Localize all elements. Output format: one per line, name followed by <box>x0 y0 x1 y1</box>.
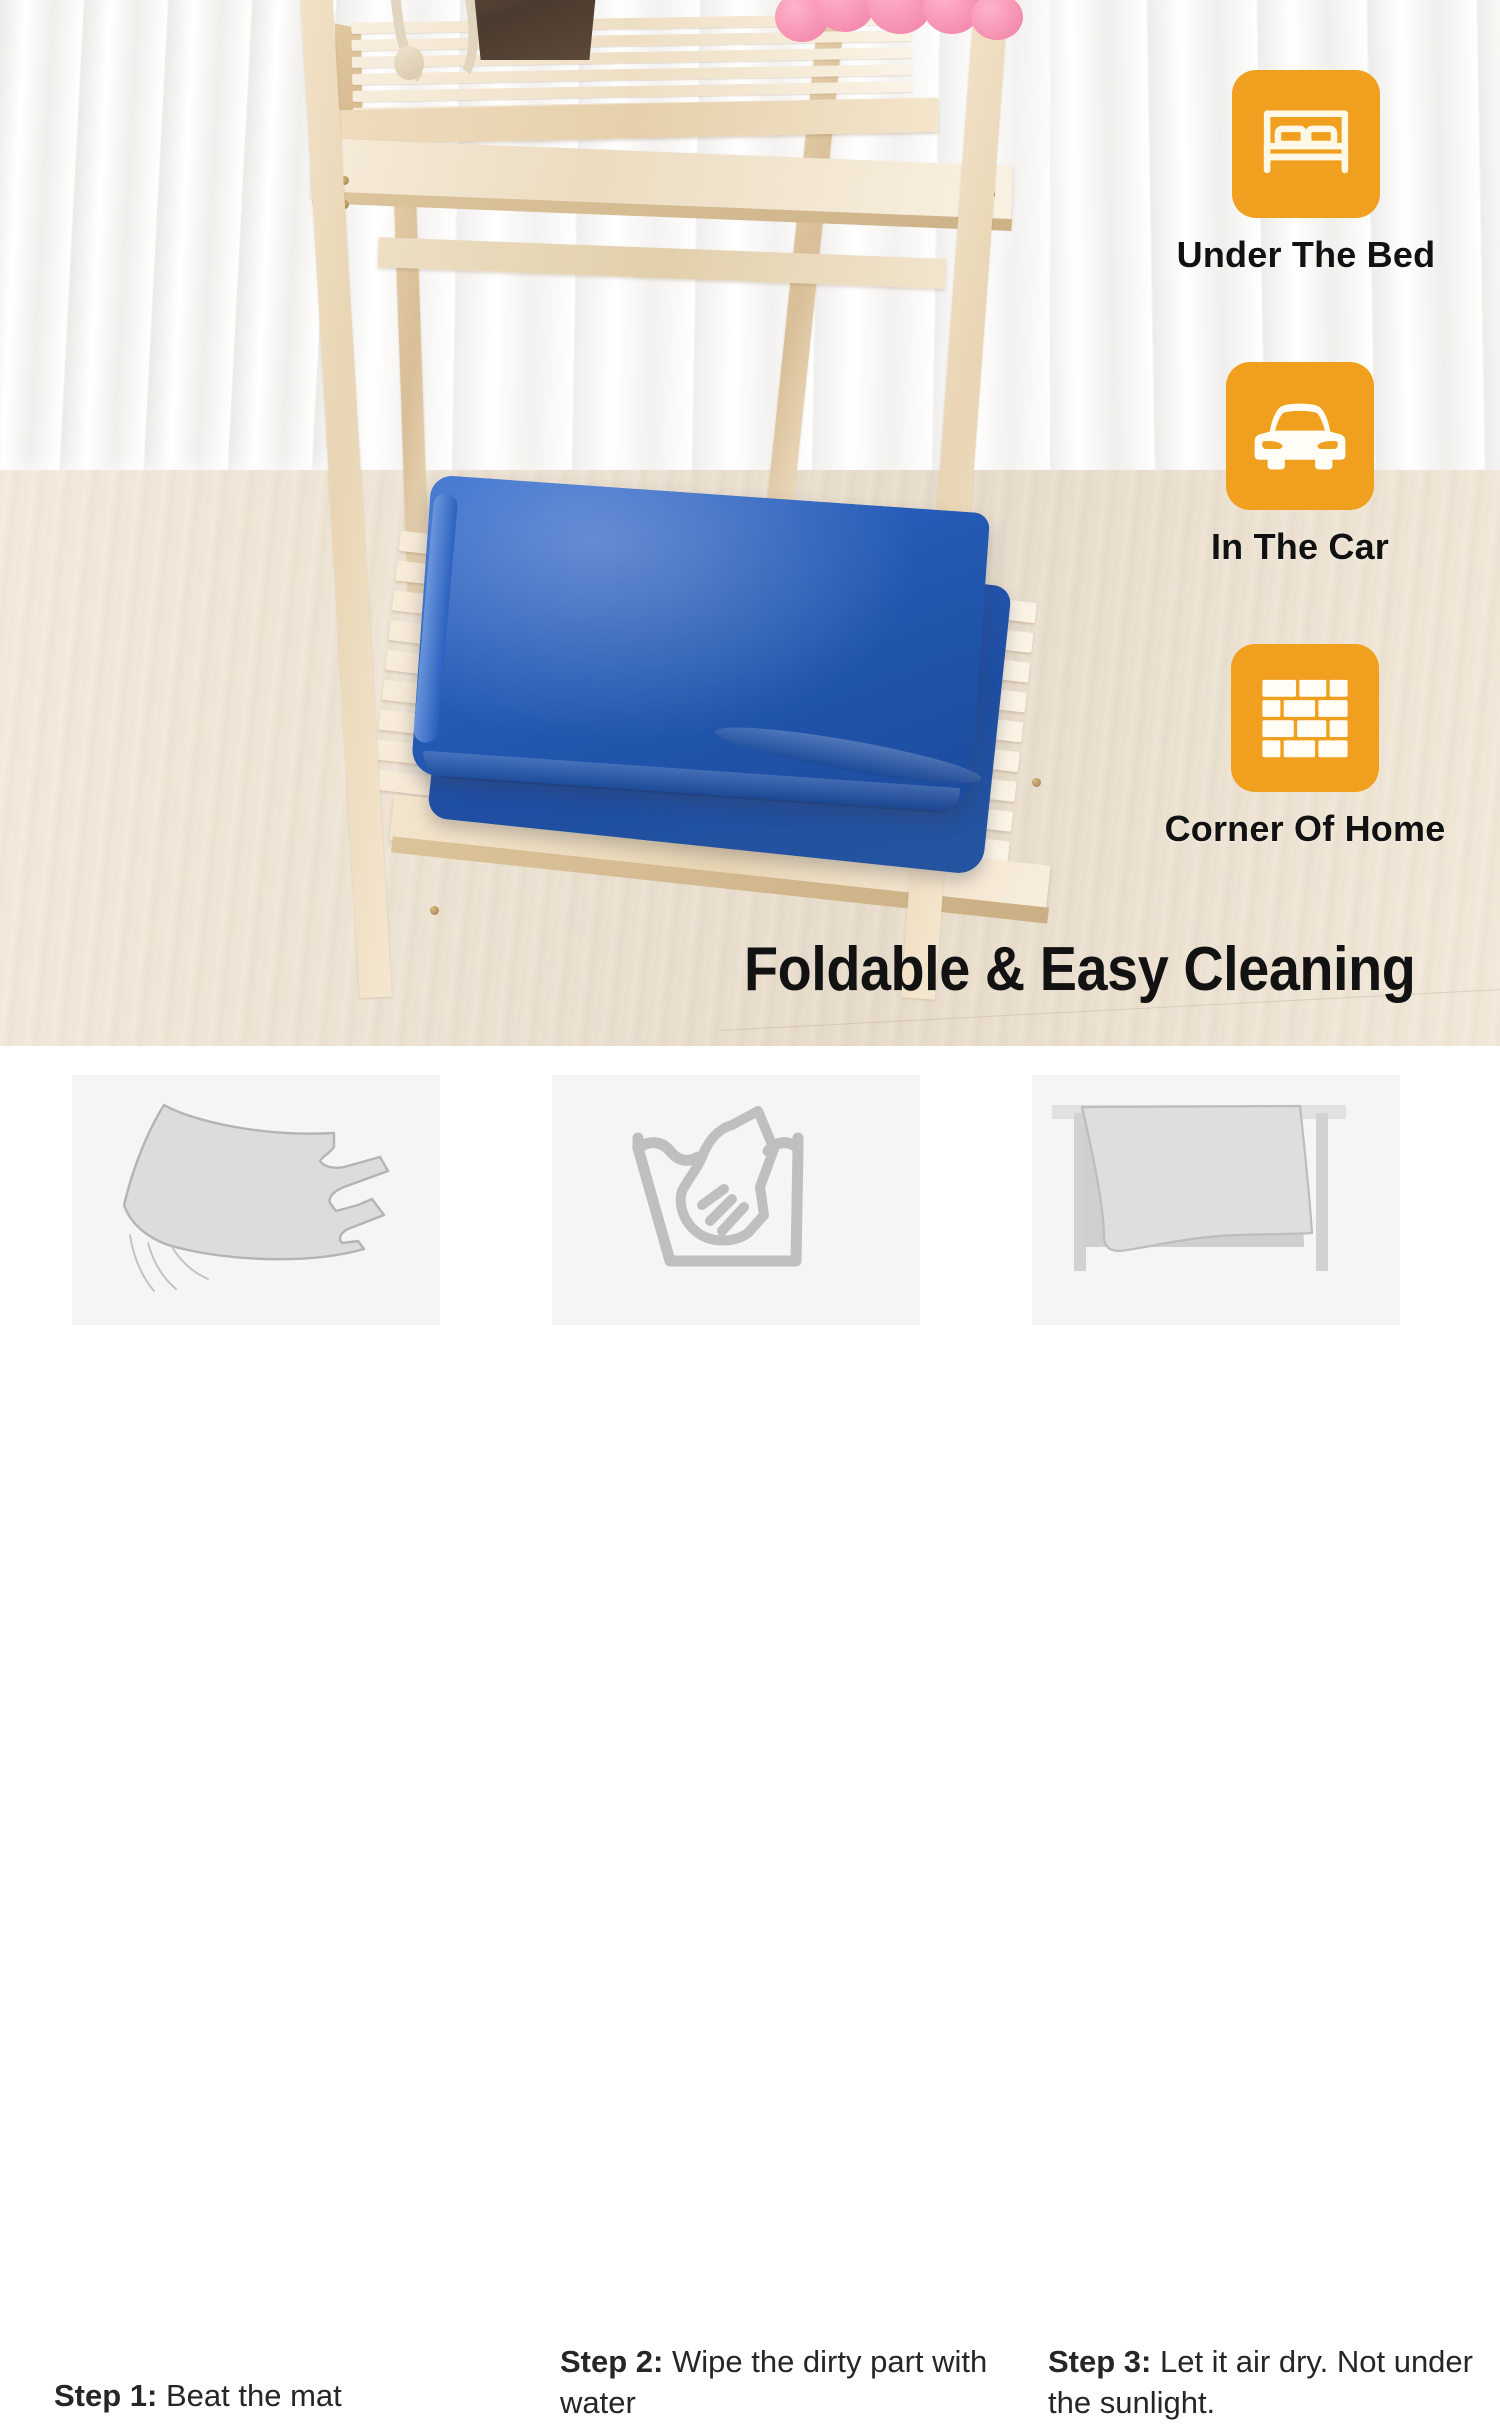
hand-wash-basin-icon <box>552 1075 920 1325</box>
pink-yarn-decor <box>775 0 1025 42</box>
step-label: Step 1: <box>54 2378 157 2413</box>
feature-label: Corner Of Home <box>1110 808 1500 850</box>
feature-corner-of-home: Corner Of Home <box>1110 644 1500 850</box>
product-photo-scene: Under The Bed In The Car <box>0 0 1500 1046</box>
rope-knot <box>394 46 424 80</box>
cleaning-steps-section: Step 1: Beat the mat Step 2: Wipe the di… <box>0 1046 1500 1500</box>
step-label: Step 2: <box>560 2344 663 2379</box>
product-infographic: Under The Bed In The Car <box>0 0 1500 1500</box>
step-1-caption: Step 1: Beat the mat <box>54 2376 494 2417</box>
headline: Foldable & Easy Cleaning <box>744 934 1415 1005</box>
step-text: Beat the mat <box>157 2378 341 2413</box>
shaking-mat-icon <box>72 1075 440 1325</box>
mat-crease <box>713 717 984 793</box>
mat-upper-layer <box>411 475 991 813</box>
feature-label: Under The Bed <box>1156 234 1456 276</box>
feature-label: In The Car <box>1150 526 1450 568</box>
brick-wall-icon <box>1231 644 1379 792</box>
step-2-caption: Step 2: Wipe the dirty part with water <box>560 2342 990 2424</box>
mat-drying-on-rack-icon <box>1032 1075 1400 1325</box>
feature-in-the-car: In The Car <box>1150 362 1450 568</box>
bed-icon <box>1232 70 1380 218</box>
step-label: Step 3: <box>1048 2344 1151 2379</box>
feature-under-the-bed: Under The Bed <box>1156 70 1456 276</box>
car-icon <box>1226 362 1374 510</box>
blue-folded-mat <box>406 475 1030 886</box>
step-3-caption: Step 3: Let it air dry. Not under the su… <box>1048 2342 1488 2424</box>
